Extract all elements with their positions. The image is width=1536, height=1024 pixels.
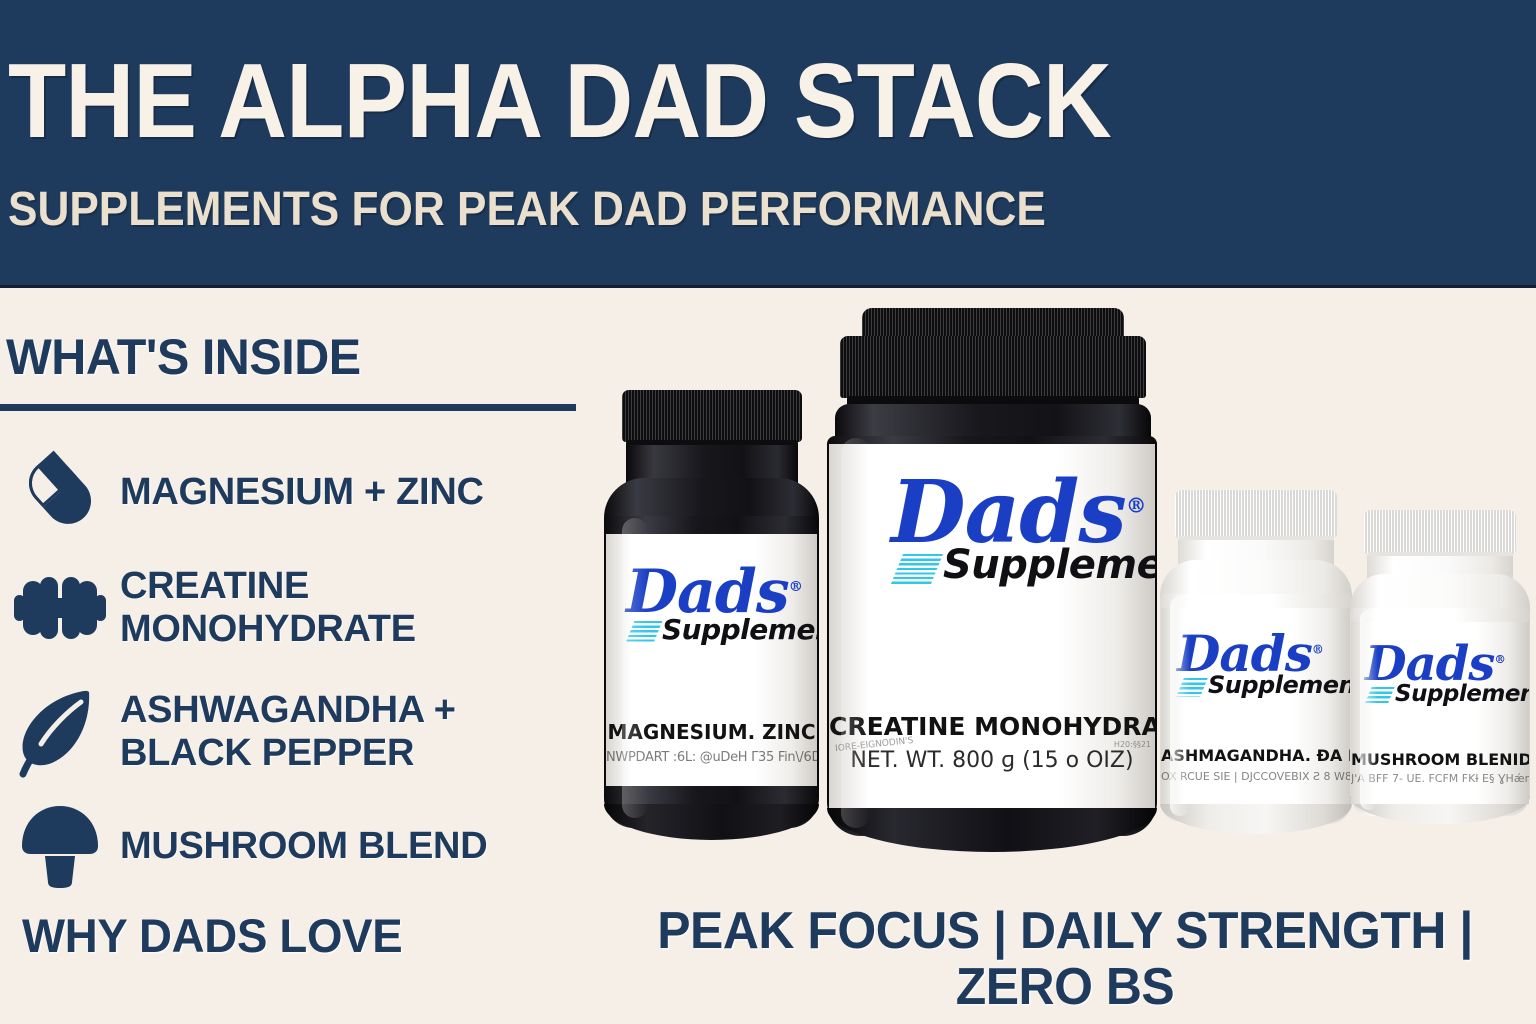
ingredient-label: MAGNESIUM + ZINC [120,471,484,514]
ingredient-label: ASHWAGANDHA + BLACK PEPPER [120,689,456,775]
tub-cap [840,336,1146,398]
product-mushroom-blend-bottle: Dads® Supplements MUSHROOM BLENID J'A BF… [1350,510,1530,840]
why-dads-love-heading: WHY DADS LOVE [22,908,402,963]
bottle-label: Dads® Supplements ASHMAGANDHA. ĐA BLACK … [1161,608,1351,804]
registered-mark: ® [1494,652,1506,666]
bottle-label: Dads® Supplements MUSHROOM BLENID J'A BF… [1351,622,1529,804]
ingredient-item-creatine: CREATINE MONOHYDRATE [0,548,600,668]
ingredient-item-ashwagandha: ASHWAGANDHA + BLACK PEPPER [0,672,600,792]
tagline: PEAK FOCUS | DAILY STRENGTH | ZERO BS [619,903,1512,1015]
infographic-page: THE ALPHA DAD STACK SUPPLEMENTS FOR PEAK… [0,0,1536,1024]
bottle-base [1160,804,1352,834]
brand-logo: Dads® Supplements [891,472,1155,588]
brand-logo: Dads® Supplements [1177,630,1351,699]
bottle-base [604,804,819,840]
ingredient-label-line1: ASHWAGANDHA + [120,689,456,731]
registered-mark: ® [1126,493,1147,517]
ingredient-label-line2: BLACK PEPPER [120,732,414,774]
dumbbell-icon [0,573,120,643]
registered-mark: ® [1312,642,1324,656]
logo-stripes-icon [1176,678,1208,697]
label-side-text-right: H20:§§21 [1114,740,1151,749]
bottle-cap [622,390,802,442]
page-subtitle: SUPPLEMENTS FOR PEAK DAD PERFORMANCE [8,186,1046,234]
whats-inside-heading: WHAT'S INSIDE [6,328,361,386]
product-subtext: OX RCUE SIE | DJCCOVEBIX Ƨ 8 W8§ó6 ƗXTI [1161,770,1351,783]
product-subtext: NWPDART :6L: @uDeH Γ35 Fin\/6DZl\/Y [606,750,817,765]
product-name: MAGNESIUM. ZINC [606,720,817,744]
tub-label: Dads® Supplements CREATINE MONOHYDRATE N… [829,444,1155,808]
bottle-label: Dads® Supplements MAGNESIUM. ZINC NWPDAR… [606,534,817,786]
brand-logo: Dads® Supplements [1365,642,1529,707]
product-subtext: J'A BFF 7- UE. FCFM FKƗ E§ ƔHǽn/ƗTƗ [1351,772,1529,785]
tagline-line1: PEAK FOCUS | DAILY STRENGTH | [657,902,1473,960]
ingredient-label: CREATINE MONOHYDRATE [120,565,416,651]
brand-sub-wordmark: Supplements [1395,681,1529,707]
product-name: CREATINE MONOHYDRATE [829,712,1155,741]
ingredient-item-mushroom: MUSHROOM BLEND [0,796,600,896]
ingredient-label: MUSHROOM BLEND [120,825,487,868]
bottle-cap [1364,510,1516,554]
page-title: THE ALPHA DAD STACK [8,48,1111,154]
capsule-icon [0,449,120,535]
product-subtext: NET. WT. 800 ɡ (15 o OIZ) [829,748,1155,773]
header-banner: THE ALPHA DAD STACK SUPPLEMENTS FOR PEAK… [0,0,1536,288]
bottle-shoulder-curve [1350,574,1530,612]
brand-sub-wordmark: Supplements [662,613,817,646]
product-lineup: Dads® Supplements MAGNESIUM. ZINC NWPDAR… [590,290,1536,890]
brand-sub-wordmark: Supplements [1208,671,1351,699]
brand-logo: Dads® Supplements [626,564,817,646]
ingredient-label-line1: CREATINE [120,565,309,607]
leaf-icon [0,686,120,778]
tagline-line2: ZERO BS [956,958,1175,1016]
logo-stripes-icon [626,621,663,643]
brand-sub-wordmark: Supplements [943,542,1155,588]
product-creatine-monohydrate-tub: Dads® Supplements CREATINE MONOHYDRATE N… [827,308,1157,858]
product-name: ASHMAGANDHA. ĐA BLACK PEPPER [1161,746,1351,765]
mushroom-icon [0,802,120,890]
registered-mark: ® [789,578,803,595]
product-name: MUSHROOM BLENID [1351,750,1529,769]
ingredient-label-line2: MONOHYDRATE [120,608,416,650]
product-ashwagandha-bottle: Dads® Supplements ASHMAGANDHA. ĐA BLACK … [1160,490,1352,850]
bottle-cap [1175,490,1337,538]
logo-stripes-icon [1364,687,1394,705]
tub-base [827,808,1157,852]
logo-stripes-icon [891,554,943,584]
product-magnesium-zinc-bottle: Dads® Supplements MAGNESIUM. ZINC NWPDAR… [604,390,819,845]
section-divider [0,404,576,411]
ingredient-item-magnesium: MAGNESIUM + ZINC [0,438,600,546]
